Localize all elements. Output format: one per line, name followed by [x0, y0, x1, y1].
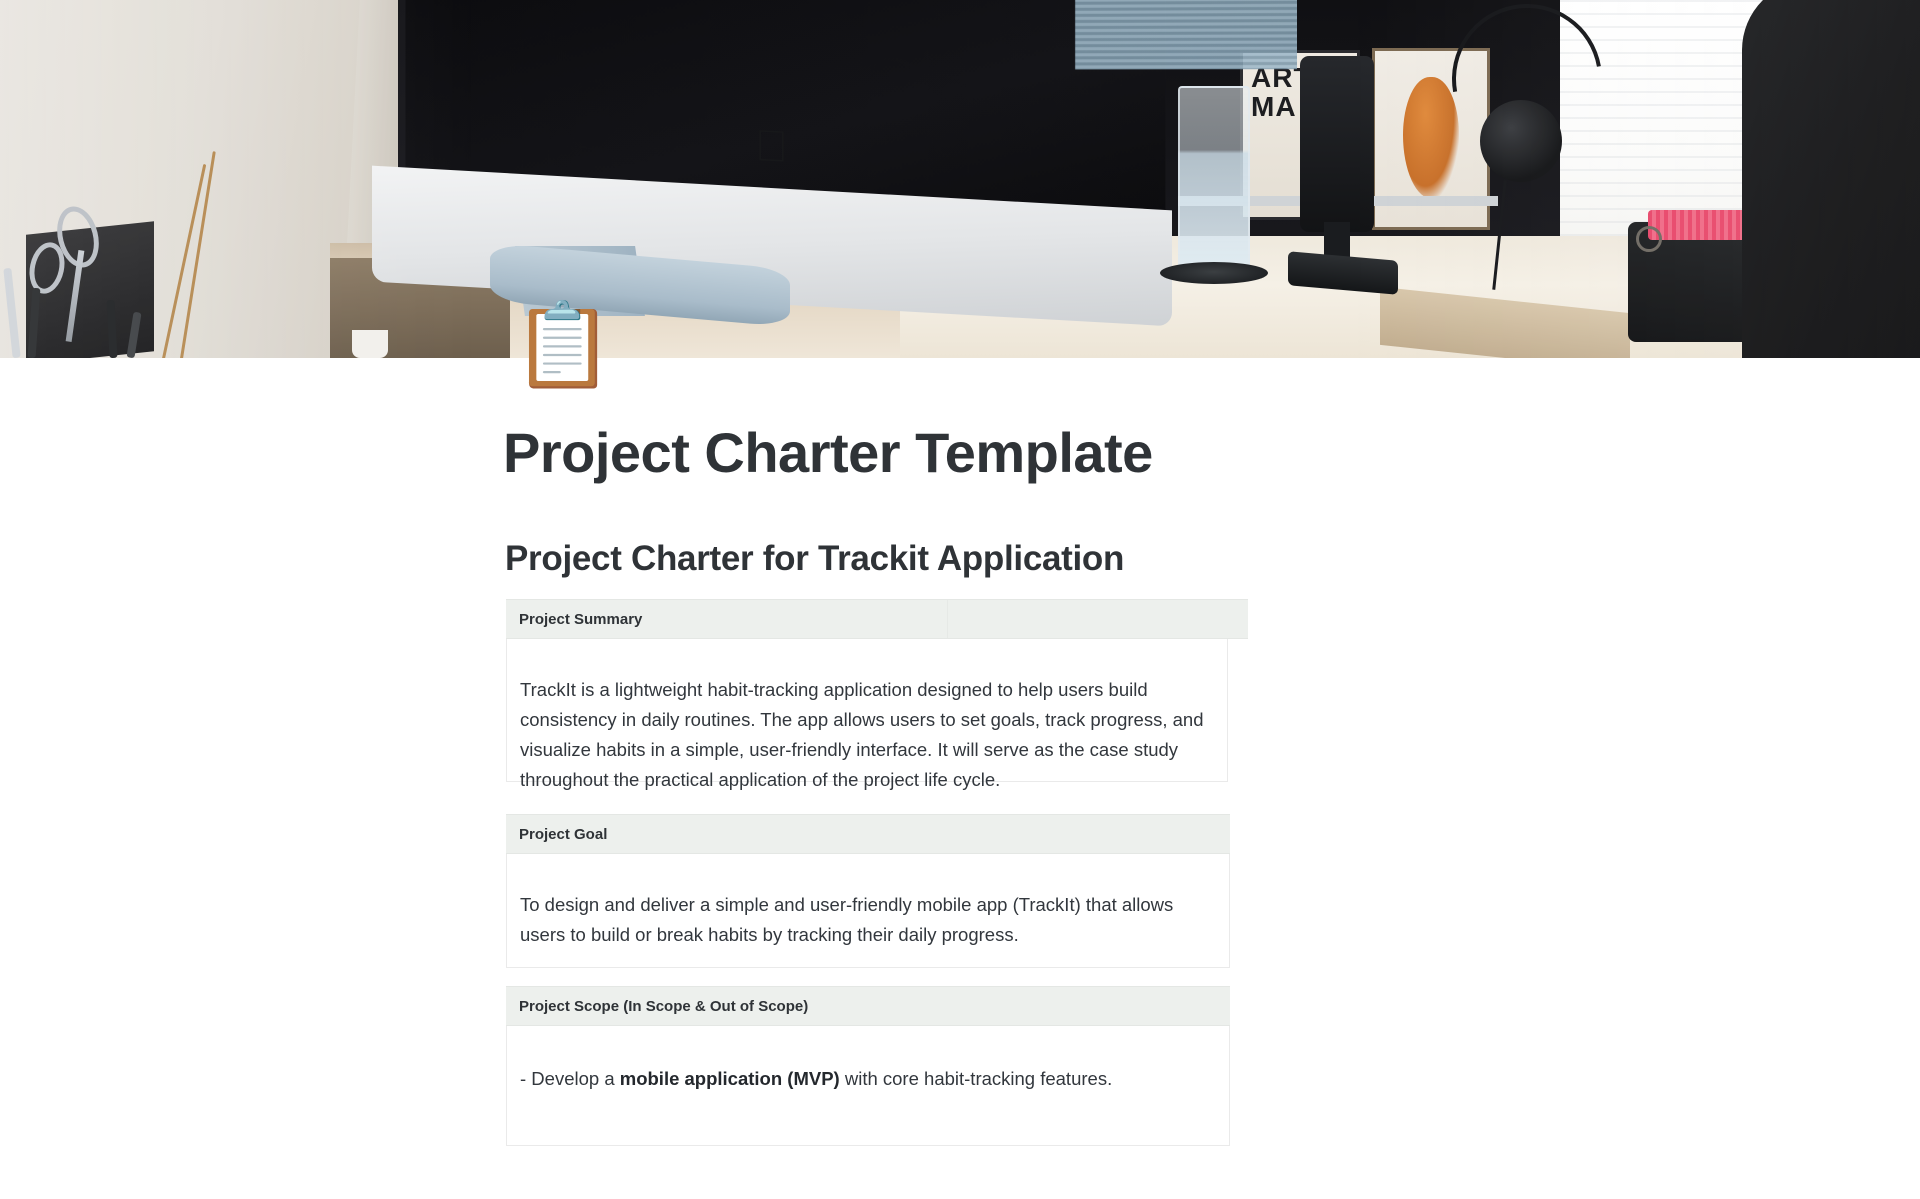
section-title: Project Charter for Trackit Application — [505, 539, 1124, 579]
document-page: ANY ART MA  — [0, 0, 1920, 1199]
person-silhouette — [1742, 0, 1920, 358]
table-header-label: Project Goal — [519, 826, 607, 843]
cover-scene: ANY ART MA  — [0, 0, 1920, 358]
table-header-row[interactable]: Project Scope (In Scope & Out of Scope) — [506, 986, 1230, 1026]
orange-blob — [1403, 77, 1459, 199]
bag-strap-ring — [1636, 226, 1662, 252]
column-divider — [947, 600, 948, 638]
table-header-label: Project Summary — [519, 611, 642, 628]
small-cup — [352, 330, 388, 358]
table-header-row[interactable]: Project Summary — [506, 599, 1248, 639]
page-title: Project Charter Template — [503, 420, 1153, 485]
table-header-row[interactable]: Project Goal — [506, 814, 1230, 854]
table-body-cell[interactable]: TrackIt is a lightweight habit-tracking … — [506, 639, 1228, 782]
headphones-earcup — [1480, 100, 1562, 182]
table-block-project-scope: Project Scope (In Scope & Out of Scope) … — [506, 986, 1230, 1146]
cell-text: To design and deliver a simple and user-… — [520, 890, 1207, 950]
table-body-cell[interactable]: To design and deliver a simple and user-… — [506, 854, 1230, 968]
phone — [1300, 56, 1374, 232]
clipboard-icon[interactable]: 📋 — [512, 297, 610, 395]
table-header-label: Project Scope (In Scope & Out of Scope) — [519, 998, 808, 1015]
cell-text: - Develop a mobile application (MVP) wit… — [520, 1064, 1207, 1094]
water-glass — [1178, 86, 1250, 272]
coaster — [1160, 262, 1268, 284]
cover-image: ANY ART MA  — [0, 0, 1920, 358]
cell-text: TrackIt is a lightweight habit-tracking … — [520, 675, 1205, 795]
apple-logo-icon:  — [755, 121, 788, 173]
table-block-project-goal: Project Goal To design and deliver a sim… — [506, 814, 1230, 968]
table-body-cell[interactable]: - Develop a mobile application (MVP) wit… — [506, 1026, 1230, 1146]
screen-window-reflection — [1075, 0, 1297, 69]
table-block-project-summary: Project Summary TrackIt is a lightweight… — [506, 599, 1228, 782]
